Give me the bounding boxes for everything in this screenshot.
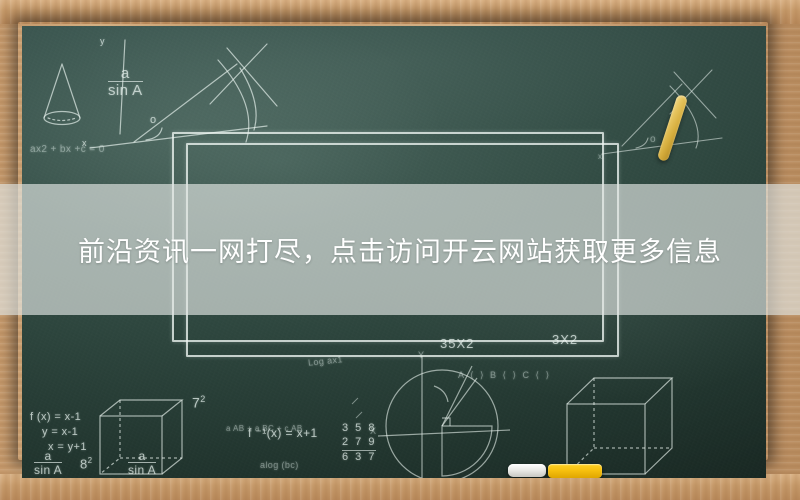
- quadratic-equation: ax2 + bx +c = 0: [30, 144, 105, 155]
- inverse-function-equation: f ⁻¹(x) = x+1: [248, 426, 318, 440]
- yellow-chalk: [548, 464, 602, 478]
- cone-base-dash: [48, 118, 76, 121]
- seven-base: 7: [192, 395, 200, 411]
- eight-base: 8: [80, 456, 88, 471]
- fraction-a-over-sinA-bottomleft: a sin A: [34, 450, 62, 477]
- arc-curve: [218, 60, 249, 142]
- cross-line-2: [210, 44, 267, 104]
- angle-label-midright: o: [650, 134, 656, 145]
- banner-image: a sin A y x o ax2 + bx +c = 0 o x f (x) …: [0, 0, 800, 500]
- misc-chalk-marks: [352, 398, 362, 418]
- white-eraser: [508, 464, 546, 477]
- equation-fx: f (x) = x-1: [30, 410, 87, 425]
- seven-exponent: 2: [200, 394, 205, 404]
- angle-arc: [146, 128, 162, 140]
- fraction-numerator: a: [128, 450, 156, 462]
- fraction-a-over-sinA-bottomcenter: a sin A: [128, 450, 156, 477]
- axis-label-x-right: X: [370, 426, 376, 436]
- seven-squared: 72: [192, 394, 206, 411]
- eight-squared: 82: [80, 456, 93, 471]
- alog-expression: alog (bc): [260, 460, 299, 470]
- cross-line-1: [227, 48, 277, 106]
- fraction-denominator: sin A: [128, 462, 156, 476]
- inner-arc: [240, 68, 256, 130]
- fraction-numerator: a: [108, 66, 143, 81]
- ray-line: [134, 64, 237, 142]
- fraction-denominator: sin A: [108, 81, 143, 98]
- caption-text: 前沿资讯一网打尽，点击访问开云网站获取更多信息: [0, 184, 800, 315]
- function-equations-group: f (x) = x-1 y = x-1 x = y+1: [30, 410, 87, 455]
- wooden-frame-top: [0, 0, 800, 24]
- axis-label-y-topleft: y: [100, 36, 105, 46]
- fraction-a-over-sinA-topleft: a sin A: [108, 66, 143, 99]
- cone-base: [44, 112, 80, 125]
- cube-right: [567, 378, 672, 474]
- eight-exponent: 2: [88, 456, 93, 465]
- fraction-numerator: a: [34, 450, 62, 462]
- cone-sides: [44, 64, 80, 118]
- fraction-denominator: sin A: [34, 462, 62, 476]
- sum-row-2: 2 7 9: [342, 436, 376, 451]
- matrix-row-expression: A ⟨ ⟩ B ⟨ ⟩ C ⟨ ⟩: [458, 370, 551, 381]
- yellow-chalk-stick: [657, 94, 688, 162]
- equation-y: y = x-1: [30, 425, 87, 440]
- sum-row-3: 6 3 7: [342, 451, 376, 465]
- angle-label-topleft: o: [150, 114, 157, 126]
